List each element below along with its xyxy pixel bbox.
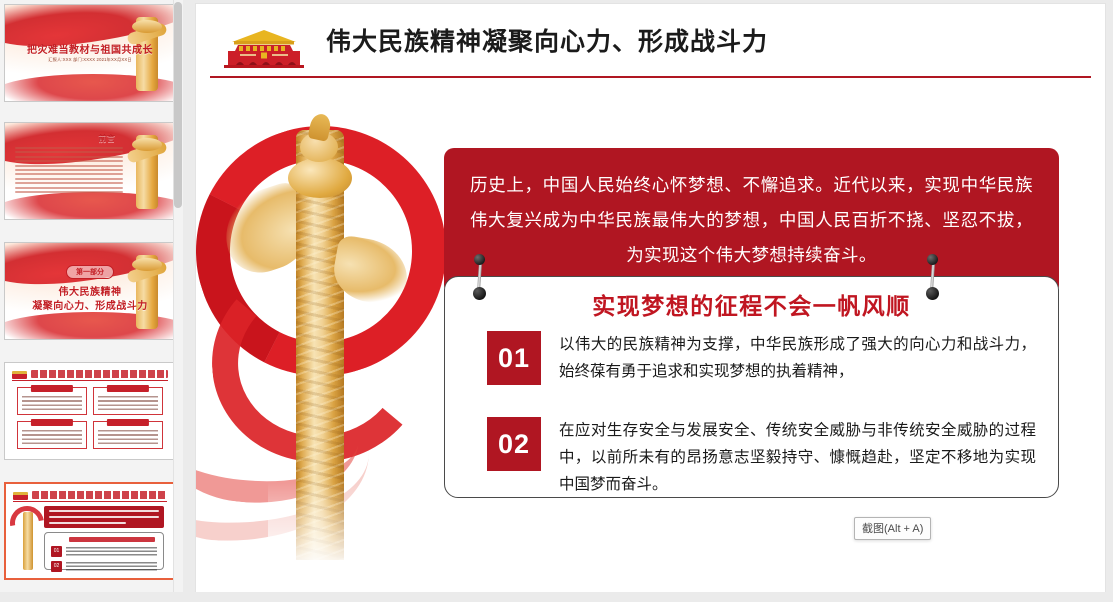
thumbnail-4-card xyxy=(17,421,87,449)
thumbnail-4-card xyxy=(93,387,163,415)
huabiao-cap xyxy=(288,158,352,198)
detail-item-number: 02 xyxy=(487,417,541,471)
red-ribbon-ring-inner xyxy=(204,253,436,471)
thumbnail-slide-1[interactable]: 把灾难当教材与祖国共成长 汇报人:XXX 部门:XXXX 2021年XX月XX日 xyxy=(4,4,176,102)
detail-item-text: 以伟大的民族精神为支撑，中华民族形成了强大的向心力和战斗力，始终葆有勇于追求和实… xyxy=(559,331,1036,386)
detail-item: 01 以伟大的民族精神为支撑，中华民族形成了强大的向心力和战斗力，始终葆有勇于追… xyxy=(487,331,1036,386)
thumbnail-5-item-number: 01 xyxy=(51,546,62,557)
detail-panel: 实现梦想的征程不会一帆风顺 01 以伟大的民族精神为支撑，中华民族形成了强大的向… xyxy=(444,276,1059,498)
thumbnail-3-badge: 第一部分 xyxy=(66,265,114,279)
thumbnail-5-artwork xyxy=(12,506,42,570)
thumbnail-1-subtitle: 汇报人:XXX 部门:XXXX 2021年XX月XX日 xyxy=(5,57,175,63)
bottom-strip xyxy=(0,592,1113,602)
thumbnail-4-card-grid xyxy=(17,387,163,449)
detail-item-number: 01 xyxy=(487,331,541,385)
thumbnail-slide-4[interactable] xyxy=(4,362,176,460)
thumbnail-3-title-line2: 凝聚向心力、形成战斗力 xyxy=(5,297,175,312)
cloud-wing-right xyxy=(329,234,413,308)
red-ribbon-ring xyxy=(196,93,479,408)
sidebar-scrollbar-thumb[interactable] xyxy=(174,2,182,208)
detail-item-text: 在应对生存安全与发展安全、传统安全威胁与非传统安全威胁的过程中，以前所未有的昂扬… xyxy=(559,417,1036,499)
thumbnail-slide-5[interactable]: 01 02 xyxy=(4,482,176,580)
thumbnail-5-item-number: 02 xyxy=(51,561,62,572)
thumbnail-slide-3[interactable]: 第一部分 伟大民族精神 凝聚向心力、形成战斗力 xyxy=(4,242,176,340)
cloud-wing-left xyxy=(214,179,321,282)
pin-connector-right xyxy=(926,254,940,300)
thumbnail-5-quote-box xyxy=(44,506,164,528)
detail-item: 02 在应对生存安全与发展安全、传统安全威胁与非传统安全威胁的过程中，以前所未有… xyxy=(487,417,1036,499)
artwork-fade xyxy=(268,482,388,592)
huabiao-finial xyxy=(308,112,333,142)
application-window: 把灾难当教材与祖国共成长 汇报人:XXX 部门:XXXX 2021年XX月XX日… xyxy=(0,0,1113,602)
huabiao-icon xyxy=(136,135,158,210)
thumbnail-5-item: 02 xyxy=(51,561,157,574)
huabiao-upper-cap xyxy=(300,132,338,162)
slide-stage: 伟大民族精神凝聚向心力、形成战斗力 历史上，中国人民始终心怀梦想、不懈追求。近代… xyxy=(183,0,1113,602)
thumbnail-1-title: 把灾难当教材与祖国共成长 xyxy=(5,41,175,56)
thumbnail-3-title-line1: 伟大民族精神 xyxy=(5,283,175,298)
thumbnail-slide-2[interactable]: 前言 xyxy=(4,122,176,220)
tiananmen-gate-icon xyxy=(13,492,28,500)
thumbnail-5-item: 01 xyxy=(51,546,157,559)
pin-connector-left xyxy=(473,254,487,300)
slide-header: 伟大民族精神凝聚向心力、形成战斗力 xyxy=(210,16,1091,78)
thumbnail-4-card xyxy=(17,387,87,415)
quote-callout: 历史上，中国人民始终心怀梦想、不懈追求。近代以来，实现中华民族伟大复兴成为中华民… xyxy=(444,148,1059,295)
thumbnail-4-header xyxy=(12,369,168,381)
thumbnail-5-header xyxy=(13,490,167,502)
tiananmen-gate-icon xyxy=(218,24,310,70)
huabiao-shaft xyxy=(296,130,344,560)
tiananmen-gate-icon xyxy=(12,371,27,379)
thumbnail-4-header-text xyxy=(31,370,168,378)
red-ribbon-tail-soft xyxy=(196,408,370,545)
detail-panel-heading: 实现梦想的征程不会一帆风顺 xyxy=(445,287,1058,321)
thumbnail-4-card xyxy=(93,421,163,449)
thumbnail-2-body-lines xyxy=(15,147,123,195)
thumbnail-2-title: 前言 xyxy=(77,133,137,144)
thumbnail-5-sub-header xyxy=(69,537,155,542)
main-slide[interactable]: 伟大民族精神凝聚向心力、形成战斗力 历史上，中国人民始终心怀梦想、不懈追求。近代… xyxy=(196,4,1105,592)
thumbnail-5-detail-panel: 01 02 xyxy=(44,532,164,570)
sidebar-scrollbar-track[interactable] xyxy=(173,0,183,602)
slide-thumbnail-panel[interactable]: 把灾难当教材与祖国共成长 汇报人:XXX 部门:XXXX 2021年XX月XX日… xyxy=(0,0,183,602)
page-title: 伟大民族精神凝聚向心力、形成战斗力 xyxy=(326,22,768,58)
red-ribbon-tail xyxy=(196,374,364,513)
quote-text: 历史上，中国人民始终心怀梦想、不懈追求。近代以来，实现中华民族伟大复兴成为中华民… xyxy=(470,168,1033,273)
screenshot-shortcut-tooltip: 截图(Alt + A) xyxy=(854,517,931,540)
thumbnail-5-header-text xyxy=(32,491,167,499)
